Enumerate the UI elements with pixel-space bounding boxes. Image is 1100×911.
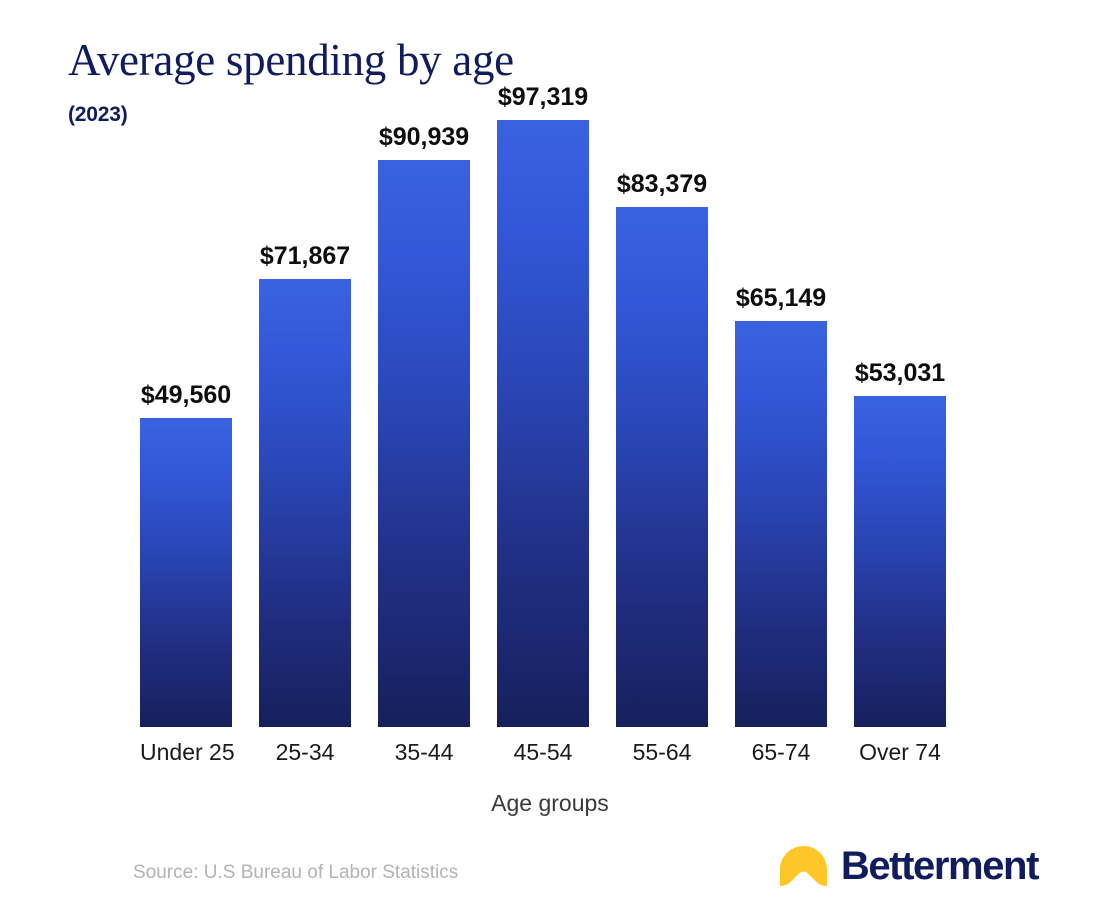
bar[interactable] — [259, 279, 351, 727]
betterment-sun-icon — [780, 846, 827, 886]
x-axis-category-labels: Under 2525-3435-4445-5455-6465-74Over 74 — [140, 737, 945, 771]
chart-subtitle: (2023) — [68, 102, 128, 128]
betterment-logo: Betterment — [780, 843, 1038, 889]
x-axis-tick-label: 55-64 — [616, 737, 708, 767]
bar-column[interactable]: $97,319 — [497, 120, 589, 727]
x-axis-tick-label: Under 25 — [140, 737, 232, 767]
x-axis-tick-label: 45-54 — [497, 737, 589, 767]
bar-column[interactable]: $49,560 — [140, 120, 232, 727]
x-axis-tick-label: Over 74 — [854, 737, 946, 767]
bar-column[interactable]: $53,031 — [854, 120, 946, 727]
bar-value-label: $71,867 — [260, 242, 350, 270]
chart-page: Average spending by age (2023) $49,560$7… — [0, 0, 1100, 911]
bar-column[interactable]: $83,379 — [616, 120, 708, 727]
page-title: Average spending by age — [68, 34, 514, 86]
x-axis-tick-label: 35-44 — [378, 737, 470, 767]
bar-column[interactable]: $90,939 — [378, 120, 470, 727]
bar[interactable] — [497, 120, 589, 727]
source-note: Source: U.S Bureau of Labor Statistics — [133, 860, 458, 886]
betterment-wordmark: Betterment — [841, 845, 1038, 887]
x-axis-tick-label: 25-34 — [259, 737, 351, 767]
bar[interactable] — [378, 160, 470, 727]
x-axis-title: Age groups — [0, 788, 1100, 818]
x-axis-tick-label: 65-74 — [735, 737, 827, 767]
bar-value-label: $53,031 — [855, 359, 945, 387]
bar-value-label: $83,379 — [617, 170, 707, 198]
bar[interactable] — [735, 321, 827, 727]
bar-column[interactable]: $71,867 — [259, 120, 351, 727]
bar[interactable] — [616, 207, 708, 727]
bar-chart-plot-area: $49,560$71,867$90,939$97,319$83,379$65,1… — [140, 120, 945, 727]
bar-value-label: $65,149 — [736, 284, 826, 312]
bar-column[interactable]: $65,149 — [735, 120, 827, 727]
bar-value-label: $49,560 — [141, 381, 231, 409]
bar-value-label: $90,939 — [379, 123, 469, 151]
bar[interactable] — [140, 418, 232, 727]
bar-value-label: $97,319 — [498, 83, 588, 111]
bar[interactable] — [854, 396, 946, 727]
